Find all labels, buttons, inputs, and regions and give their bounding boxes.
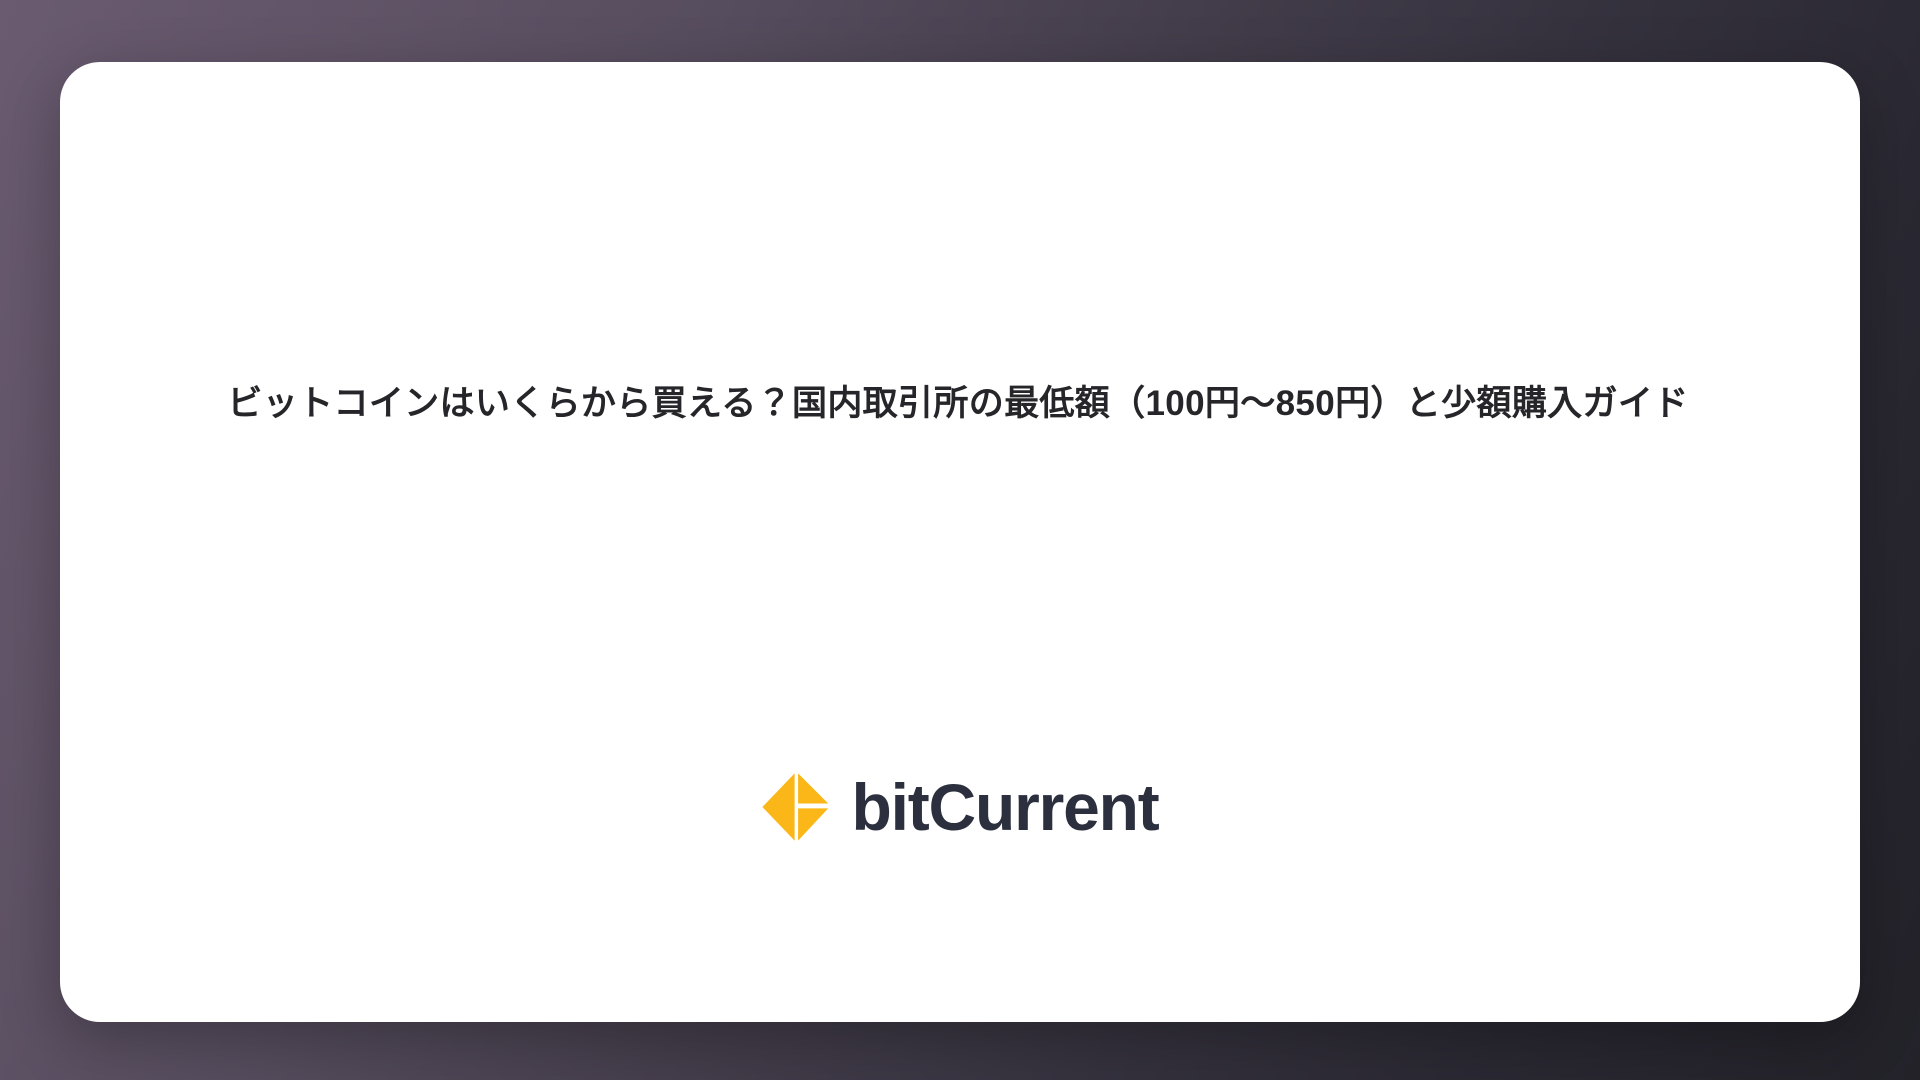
brand-logo-mark [761,772,831,842]
brand-lockup: bitCurrent [761,772,1158,842]
brand-zone: bitCurrent [60,747,1860,1022]
content-card: ビットコインはいくらから買える？国内取引所の最低額（100円〜850円）と少額購… [60,62,1860,1022]
title-zone: ビットコインはいくらから買える？国内取引所の最低額（100円〜850円）と少額購… [60,62,1860,747]
page-title: ビットコインはいくらから買える？国内取引所の最低額（100円〜850円）と少額購… [227,378,1688,431]
bitcurrent-diamond-icon [761,772,831,842]
brand-wordmark: bitCurrent [851,774,1158,840]
og-canvas: ビットコインはいくらから買える？国内取引所の最低額（100円〜850円）と少額購… [0,0,1920,1080]
